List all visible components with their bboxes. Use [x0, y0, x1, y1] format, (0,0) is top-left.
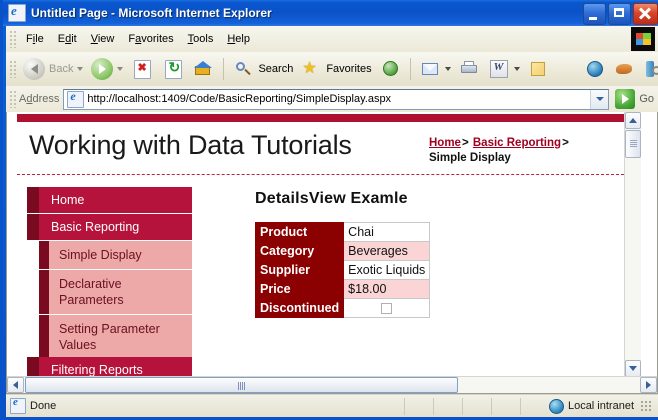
table-row: Category Beverages — [256, 242, 430, 261]
browser-window: Untitled Page - Microsoft Internet Explo… — [0, 0, 658, 420]
table-row: Supplier Exotic Liquids — [256, 261, 430, 280]
toolbar-gripper[interactable] — [8, 60, 16, 78]
forward-arrow-icon — [91, 58, 113, 80]
main-content: DetailsView Examle Product Chai Category… — [255, 190, 505, 318]
row-label-price: Price — [256, 280, 344, 299]
zone-label: Local intranet — [568, 400, 634, 412]
back-label: Back — [49, 63, 73, 75]
note-icon — [528, 59, 549, 79]
breadcrumb: Home> Basic Reporting> Simple Display — [429, 136, 629, 166]
breadcrumb-separator-1: > — [462, 137, 469, 149]
site-title: Working with Data Tutorials — [29, 130, 352, 161]
edit-chevron-down-icon[interactable] — [514, 67, 520, 71]
go-label: Go — [639, 93, 654, 105]
chevron-right-icon — [646, 381, 651, 389]
ie-document-icon — [8, 4, 26, 22]
menu-edit[interactable]: Edit — [51, 30, 84, 48]
breadcrumb-link-home[interactable]: Home — [429, 137, 461, 149]
sidebar-item-filtering-reports-label: Filtering Reports — [27, 357, 192, 377]
home-button[interactable] — [189, 57, 218, 81]
close-button[interactable] — [633, 3, 658, 25]
maximize-button[interactable] — [608, 3, 631, 25]
address-url-text: http://localhost:1409/Code/BasicReportin… — [87, 93, 391, 105]
row-value-supplier: Exotic Liquids — [344, 261, 430, 280]
breadcrumb-link-basic-reporting[interactable]: Basic Reporting — [473, 137, 561, 149]
star-icon — [301, 59, 322, 79]
messenger-icon — [643, 59, 658, 79]
back-arrow-icon — [23, 58, 45, 80]
address-gripper[interactable] — [8, 90, 16, 108]
minimize-button[interactable] — [583, 3, 606, 25]
address-dropdown-button[interactable] — [590, 90, 608, 109]
fox-button[interactable] — [610, 57, 639, 81]
sidebar-item-basic-reporting[interactable]: Basic Reporting — [27, 214, 192, 241]
row-label-product: Product — [256, 223, 344, 242]
globe-icon — [585, 59, 606, 79]
mail-button[interactable] — [416, 57, 455, 81]
windows-logo-icon — [631, 27, 655, 51]
zone-globe-icon — [549, 399, 564, 414]
row-label-supplier: Supplier — [256, 261, 344, 280]
window-title: Untitled Page - Microsoft Internet Explo… — [31, 6, 272, 20]
chevron-down-icon — [629, 366, 637, 371]
messenger-button[interactable] — [639, 57, 658, 81]
discontinued-checkbox — [381, 303, 392, 314]
row-value-price: $18.00 — [344, 280, 430, 299]
globe-button[interactable] — [581, 57, 610, 81]
home-icon — [193, 59, 214, 79]
word-icon — [490, 60, 508, 78]
menu-gripper[interactable] — [8, 30, 16, 48]
row-label-category: Category — [256, 242, 344, 261]
scroll-left-button[interactable] — [7, 377, 24, 393]
search-button[interactable]: Search — [229, 57, 297, 81]
page-favicon-icon — [67, 91, 84, 108]
menu-bar: File Edit View Favorites Tools Help — [6, 26, 658, 52]
chevron-down-icon — [596, 97, 604, 101]
media-button[interactable] — [376, 57, 405, 81]
print-button[interactable] — [455, 57, 484, 81]
row-label-discontinued: Discontinued — [256, 299, 344, 318]
fox-icon — [614, 59, 635, 79]
menu-view[interactable]: View — [84, 30, 122, 48]
address-bar: Address http://localhost:1409/Code/Basic… — [6, 86, 658, 112]
favorites-button[interactable]: Favorites — [297, 57, 375, 81]
chevron-up-icon — [629, 118, 637, 123]
edit-button[interactable] — [484, 58, 524, 80]
mail-chevron-down-icon[interactable] — [445, 67, 451, 71]
back-history-chevron-icon[interactable] — [77, 67, 83, 71]
title-bar: Untitled Page - Microsoft Internet Explo… — [3, 0, 658, 26]
stop-icon — [134, 60, 151, 79]
table-row: Discontinued — [256, 299, 430, 318]
vertical-scrollbar-thumb[interactable] — [625, 130, 641, 158]
page-viewport: Working with Data Tutorials Home> Basic … — [6, 112, 658, 394]
media-icon — [380, 59, 401, 79]
page-header: Working with Data Tutorials Home> Basic … — [17, 122, 634, 174]
row-value-product: Chai — [344, 223, 430, 242]
address-label: Address — [19, 93, 59, 105]
horizontal-scrollbar-thumb[interactable] — [25, 377, 458, 393]
menu-favorites[interactable]: Favorites — [121, 30, 180, 48]
favorites-label: Favorites — [326, 63, 371, 75]
scroll-down-button[interactable] — [625, 360, 641, 377]
table-row: Product Chai — [256, 223, 430, 242]
go-arrow-icon — [615, 89, 635, 109]
breadcrumb-current: Simple Display — [429, 152, 511, 164]
address-input[interactable]: http://localhost:1409/Code/BasicReportin… — [63, 89, 609, 110]
print-icon — [459, 59, 480, 79]
chevron-left-icon — [13, 381, 18, 389]
sidebar-item-home[interactable]: Home — [27, 187, 192, 214]
resize-grip[interactable] — [640, 400, 652, 412]
notes-button[interactable] — [524, 57, 553, 81]
status-text: Done — [30, 400, 56, 412]
toolbar-separator-2 — [410, 58, 411, 80]
refresh-button[interactable] — [158, 58, 189, 81]
navigation-toolbar: Back Search Favorites — [6, 52, 658, 86]
page-title: DetailsView Examle — [255, 190, 505, 208]
page-horizontal-scrollbar[interactable] — [7, 376, 657, 393]
refresh-icon — [165, 60, 182, 79]
sidebar-item-simple-display[interactable]: Simple Display — [27, 241, 192, 270]
sidebar-nav: Home Basic Reporting Simple Display Decl… — [27, 187, 192, 360]
page-divider — [17, 174, 634, 175]
sidebar-item-declarative-parameters[interactable]: Declarative Parameters — [27, 270, 192, 315]
table-row: Price $18.00 — [256, 280, 430, 299]
back-button[interactable]: Back — [19, 56, 87, 82]
scroll-right-button[interactable] — [640, 377, 657, 393]
web-page: Working with Data Tutorials Home> Basic … — [7, 112, 642, 377]
toolbar-separator — [223, 58, 224, 80]
stop-button[interactable] — [127, 58, 158, 81]
forward-button[interactable] — [87, 56, 127, 82]
status-bar: Done Local intranet — [6, 394, 658, 417]
scroll-up-button[interactable] — [625, 112, 641, 129]
breadcrumb-separator-2: > — [562, 137, 569, 149]
menu-help[interactable]: Help — [220, 30, 257, 48]
sidebar-item-filtering-reports-clipped[interactable]: Filtering Reports — [27, 357, 192, 377]
mail-icon — [420, 59, 441, 79]
menu-tools[interactable]: Tools — [181, 30, 221, 48]
forward-history-chevron-icon[interactable] — [117, 67, 123, 71]
search-label: Search — [258, 63, 293, 75]
security-zone[interactable]: Local intranet — [396, 398, 658, 415]
row-value-discontinued — [344, 299, 430, 318]
search-icon — [233, 59, 254, 79]
row-value-category: Beverages — [344, 242, 430, 261]
menu-file[interactable]: File — [19, 30, 51, 48]
sidebar-item-setting-parameter-values[interactable]: Setting Parameter Values — [27, 315, 192, 360]
go-button[interactable]: Go — [615, 89, 654, 109]
page-vertical-scrollbar[interactable] — [624, 112, 641, 377]
page-accent-bar — [17, 114, 634, 122]
status-page-icon — [10, 398, 26, 414]
window-controls — [583, 3, 658, 25]
details-view-table: Product Chai Category Beverages Supplier… — [255, 222, 430, 318]
